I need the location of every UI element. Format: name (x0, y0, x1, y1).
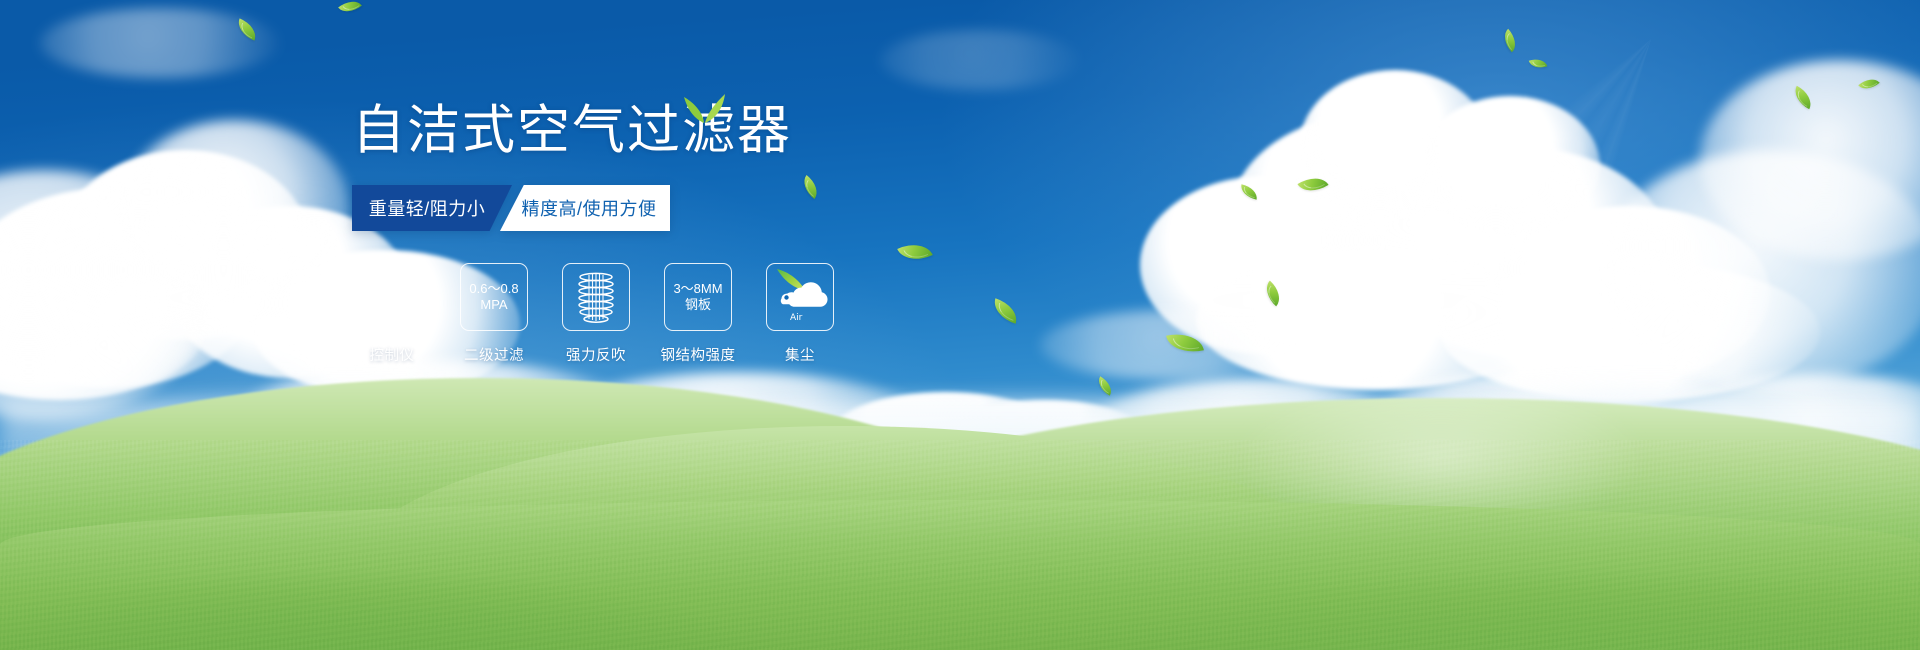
feature-label: 控制仪 (352, 344, 432, 365)
banner-content: 自洁式空气过滤器 重量轻/阻力小 精度高/使用方便 (0, 0, 1100, 650)
page-title: 自洁式空气过滤器 (352, 104, 1100, 157)
air-cloud-icon: Air (769, 267, 831, 327)
steel-thickness: 3～8MM (673, 281, 722, 296)
feature-item-backblow[interactable]: 强力反吹 (556, 263, 636, 365)
pressure-range: 0.6～0.8 (469, 281, 518, 296)
svg-text:OFF: OFF (400, 315, 412, 322)
feature-label: 钢结构强度 (658, 344, 738, 365)
feature-icon-box (562, 263, 630, 331)
svg-text:NO: NO (370, 299, 380, 307)
feature-item-dustcollect[interactable]: Air 集尘 (760, 263, 840, 365)
filter-cartridge-icon (569, 269, 623, 325)
feature-icon-box: Air (766, 263, 834, 331)
feature-icon-row: NO OFF 控制仪 0.6～0.8 MPA 二级过滤 (352, 263, 1100, 365)
tab-weight-resistance[interactable]: 重量轻/阻力小 (352, 185, 512, 231)
product-hero-banner: 自洁式空气过滤器 重量轻/阻力小 精度高/使用方便 (0, 0, 1920, 650)
feature-item-controller[interactable]: NO OFF 控制仪 (352, 263, 432, 365)
feature-item-pressure[interactable]: 0.6～0.8 MPA 二级过滤 (454, 263, 534, 365)
pressure-unit: MPA (469, 297, 518, 313)
feature-icon-box: 3～8MM 钢板 (664, 263, 732, 331)
steel-material: 钢板 (673, 297, 722, 313)
cloud-caption: Air (790, 313, 803, 323)
feature-icon-box: NO OFF (358, 263, 426, 331)
gauge-dial-icon: NO OFF (363, 268, 421, 326)
pressure-text-icon: 0.6～0.8 MPA (466, 281, 521, 313)
feature-label: 集尘 (760, 344, 840, 365)
feature-label: 二级过滤 (454, 344, 534, 365)
feature-item-steel[interactable]: 3～8MM 钢板 钢结构强度 (658, 263, 738, 365)
feature-tab-group: 重量轻/阻力小 精度高/使用方便 (352, 185, 670, 231)
title-leaf-icon (682, 92, 726, 124)
tab-precision-usability[interactable]: 精度高/使用方便 (500, 185, 670, 231)
feature-icon-box: 0.6～0.8 MPA (460, 263, 528, 331)
steel-plate-text-icon: 3～8MM 钢板 (670, 281, 725, 313)
feature-label: 强力反吹 (556, 344, 636, 365)
